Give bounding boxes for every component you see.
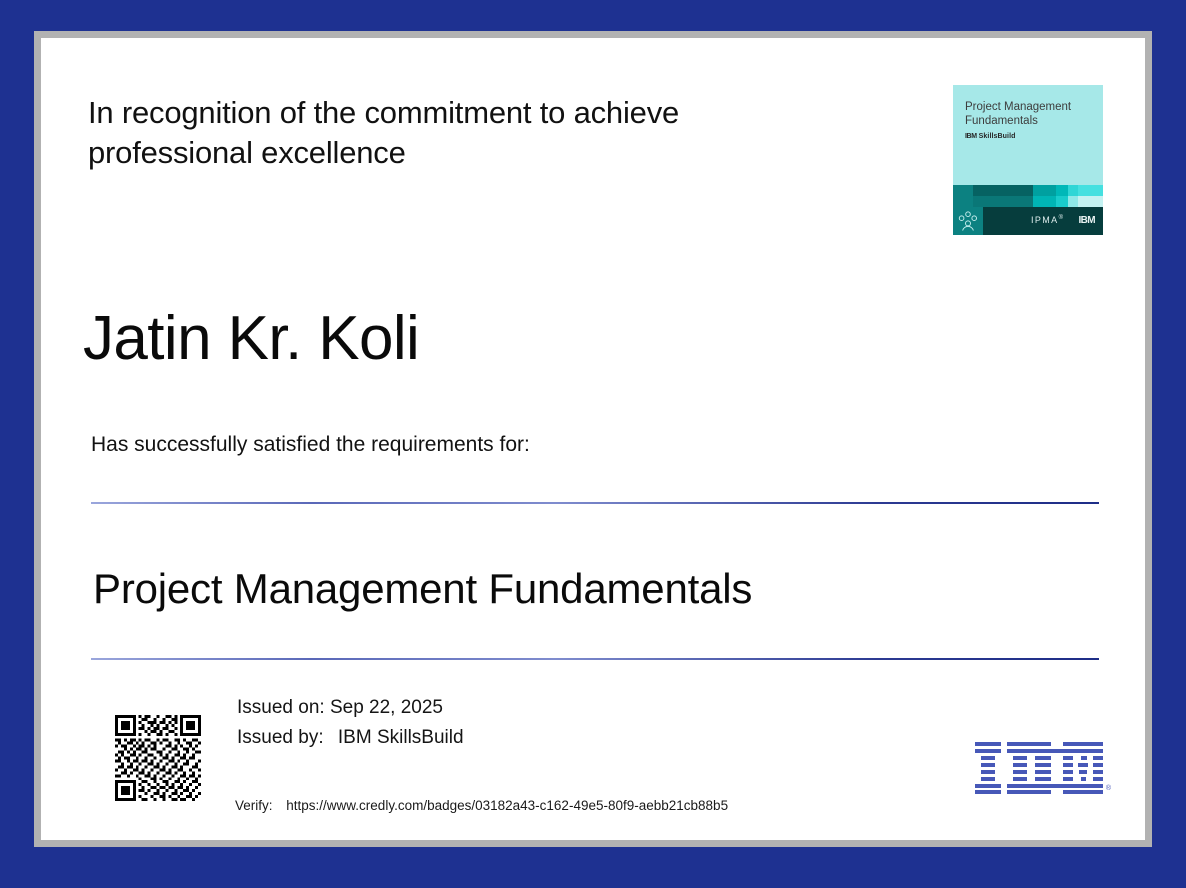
badge-band-4 bbox=[1068, 185, 1078, 196]
badge-title: Project Management Fundamentals bbox=[965, 101, 1093, 128]
badge-brand: IBMSkillsBuild bbox=[965, 133, 1016, 140]
badge-band-5 bbox=[1078, 185, 1103, 196]
badge-band-3 bbox=[1056, 185, 1068, 196]
badge-band-10 bbox=[1068, 196, 1078, 207]
badge-ipma-label: IPMA® bbox=[1031, 215, 1063, 225]
badge-band-2 bbox=[1033, 185, 1056, 196]
issued-on-row: Issued on: Sep 22, 2025 bbox=[237, 693, 464, 723]
certificate-frame: In recognition of the commitment to achi… bbox=[34, 31, 1152, 847]
badge-footer-accent bbox=[953, 207, 983, 235]
verify-label: Verify: bbox=[235, 798, 273, 813]
badge-band-0 bbox=[953, 185, 973, 196]
issued-by-label: Issued by: bbox=[237, 727, 324, 748]
credential-badge-image: Project Management Fundamentals IBMSkill… bbox=[953, 85, 1103, 235]
badge-band-9 bbox=[1056, 196, 1068, 207]
badge-ipma-registered: ® bbox=[1059, 215, 1063, 221]
qr-code[interactable] bbox=[115, 715, 201, 801]
badge-ipma-text: IPMA bbox=[1031, 215, 1059, 225]
page-title: In recognition of the commitment to achi… bbox=[88, 93, 808, 173]
requirement-statement: Has successfully satisfied the requireme… bbox=[91, 433, 530, 457]
issued-on-label: Issued on: bbox=[237, 697, 325, 718]
issued-by-row: Issued by: IBM SkillsBuild bbox=[237, 723, 464, 753]
registered-trademark-icon: ® bbox=[1106, 785, 1111, 792]
people-group-icon bbox=[957, 210, 979, 235]
issuance-details: Issued on: Sep 22, 2025 Issued by: IBM S… bbox=[237, 693, 464, 753]
badge-brand-ibm: IBM bbox=[965, 133, 977, 140]
badge-band-1 bbox=[973, 185, 1033, 196]
verify-row: Verify: https://www.credly.com/badges/03… bbox=[235, 798, 728, 813]
badge-band-6 bbox=[953, 196, 973, 207]
badge-ibm-label: IBM bbox=[1078, 215, 1095, 226]
verify-url[interactable]: https://www.credly.com/badges/03182a43-c… bbox=[286, 798, 728, 813]
badge-color-bands bbox=[953, 185, 1103, 207]
course-title: Project Management Fundamentals bbox=[93, 563, 752, 615]
divider-top bbox=[91, 502, 1099, 504]
badge-band-8 bbox=[1033, 196, 1056, 207]
certificate-page: In recognition of the commitment to achi… bbox=[41, 38, 1145, 840]
recipient-name: Jatin Kr. Koli bbox=[83, 303, 419, 375]
badge-brand-skillsbuild: SkillsBuild bbox=[979, 133, 1016, 140]
divider-bottom bbox=[91, 658, 1099, 660]
issued-by-value: IBM SkillsBuild bbox=[338, 727, 464, 748]
issued-on-value: Sep 22, 2025 bbox=[330, 697, 443, 718]
badge-band-7 bbox=[973, 196, 1033, 207]
ibm-logo: ® bbox=[975, 742, 1107, 794]
badge-footer: IPMA® IBM bbox=[953, 207, 1103, 235]
badge-band-11 bbox=[1078, 196, 1103, 207]
